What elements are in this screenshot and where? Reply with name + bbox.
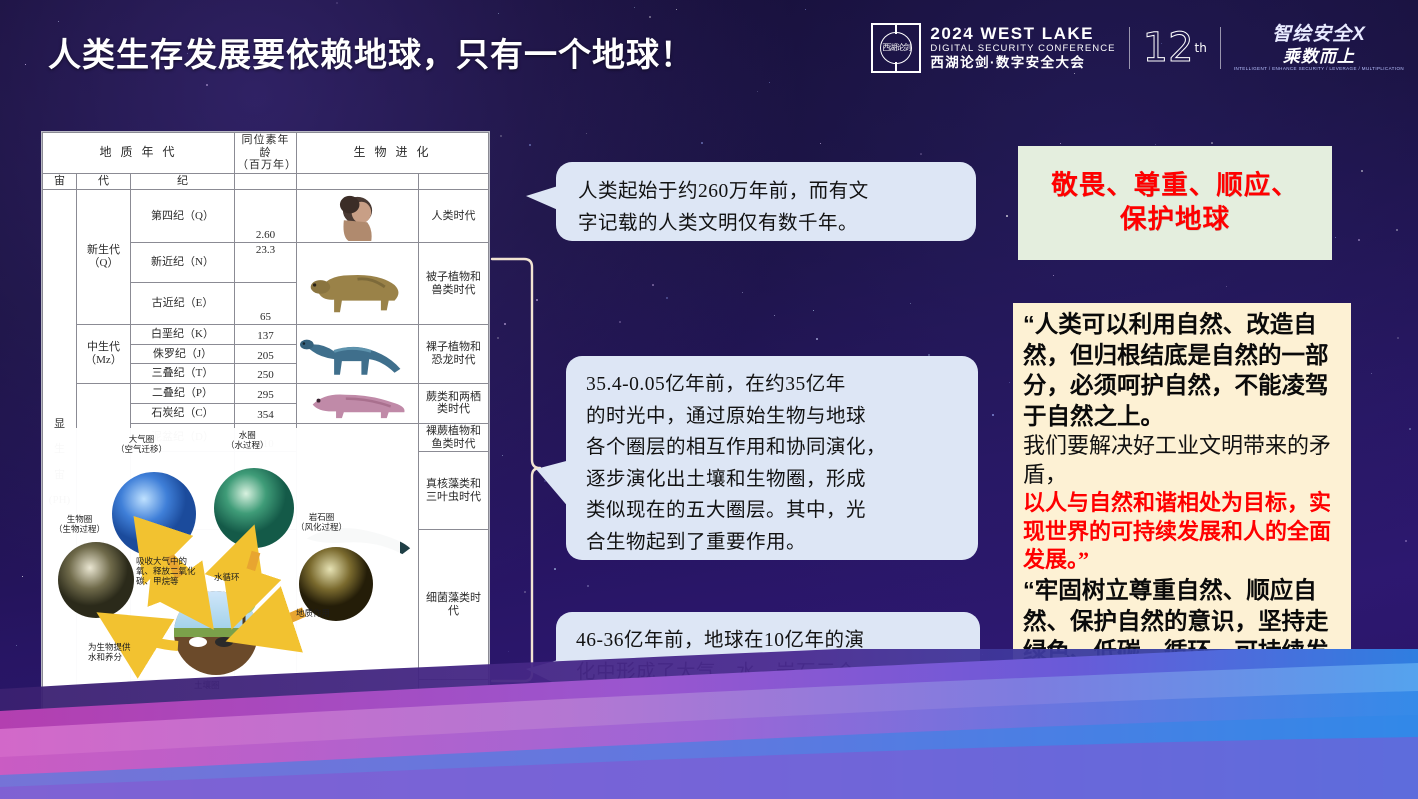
brand-line-3: 西湖论剑·数字安全大会 xyxy=(930,55,1115,71)
edition-number: 12th xyxy=(1143,29,1207,67)
cell-evolution: 裸子植物和 恐龙时代 xyxy=(419,325,489,384)
cell-period: 三叠纪（T） xyxy=(131,364,235,384)
edition-digits: 12 xyxy=(1143,29,1194,67)
green-box-line-2: 保护地球 xyxy=(1120,203,1230,237)
cell-evolution: 被子植物和 兽类时代 xyxy=(419,243,489,325)
callout-bubble-evolution: 35.4-0.05亿年前，在约35亿年 的时光中，通过原始生物与地球 各个圈层的… xyxy=(566,356,978,560)
label-flow-nutrients: 为生物提供水和养分 xyxy=(88,642,131,662)
cell-age: 137 xyxy=(235,325,297,345)
cell-period: 新近纪（N） xyxy=(131,243,235,283)
green-box-line-1: 敬畏、尊重、顺应、 xyxy=(1051,169,1299,203)
cell-age: 65 xyxy=(235,283,297,325)
subheader-eon: 宙 xyxy=(43,173,77,189)
table-header-row: 地 质 年 代 同位素年龄（百万年） 生 物 进 化 xyxy=(43,133,489,174)
page-title: 人类生存发展要依赖地球，只有一个地球！ xyxy=(48,28,694,76)
hydrosphere-sphere xyxy=(214,468,294,548)
cell-age: 250 xyxy=(235,364,297,384)
bubble-text: 35.4-0.05亿年前，在约35亿年 的时光中，通过原始生物与地球 各个圈层的… xyxy=(586,369,962,558)
cell-period: 第四纪（Q） xyxy=(131,189,235,243)
cell-period: 侏罗纪（J） xyxy=(131,344,235,364)
subheader-spacer-age xyxy=(235,173,297,189)
cell-age: 205 xyxy=(235,344,297,364)
brand-text-block: 2024 WEST LAKE DIGITAL SECURITY CONFEREN… xyxy=(930,25,1115,71)
cell-fossil-hominid xyxy=(297,189,419,243)
slogan-line-1: 智绘安全X xyxy=(1272,25,1366,44)
edition-suffix: th xyxy=(1195,29,1207,67)
dinosaur-icon xyxy=(299,326,416,382)
label-flow-water-cycle: 水循环 xyxy=(214,572,240,582)
slogan-green-box: 敬畏、尊重、顺应、 保护地球 xyxy=(1018,146,1332,260)
west-lake-logo-icon: 西湖论剑 xyxy=(871,23,921,73)
header-biologic-evolution: 生 物 进 化 xyxy=(297,133,489,174)
cell-fossil-amphibian xyxy=(297,383,419,423)
cell-period: 白垩纪（K） xyxy=(131,325,235,345)
slide-root: 人类生存发展要依赖地球，只有一个地球！ 西湖论剑 2024 WEST LAKE … xyxy=(0,0,1418,799)
slogan-fineprint: INTELLIGENT / ENHANCE SECURITY / LEVERAG… xyxy=(1234,67,1404,72)
chart-bottom-caption: [ ZN \ SN ] xyxy=(48,711,94,719)
bubble-tail xyxy=(536,460,570,509)
cell-evolution: 蕨类和两栖 类时代 xyxy=(419,383,489,423)
brand-line-2: DIGITAL SECURITY CONFERENCE xyxy=(930,43,1115,55)
cell-evolution: 细菌藻类时 代 xyxy=(419,530,489,680)
quote-segment-4: “牢固树立尊重自然、顺应自然、保护自然的意识，坚持走绿色、低碳、循环、可持续发展… xyxy=(1023,575,1343,697)
cell-period: 石炭纪（C） xyxy=(131,403,235,423)
earth-spheres-cycle-diagram: 大气圈（空气迁移） 水圈（水过程） 岩石圈（风化过程） 生物圈（生物过程） 土壤… xyxy=(48,428,400,714)
brand-line-1: 2024 WEST LAKE xyxy=(930,25,1115,43)
quote-segment-1: “人类可以利用自然、改造自然，但归根结底是自然的一部分，必须呵护自然，不能凌驾于… xyxy=(1023,309,1343,431)
label-biosphere: 生物圈（生物过程） xyxy=(54,514,105,534)
label-hydrosphere: 水圈（水过程） xyxy=(226,430,269,450)
hominid-icon xyxy=(299,191,416,242)
logo-inner-glyph: 西湖论剑 xyxy=(880,32,912,64)
cell-evolution: 真核藻类和 三叶虫时代 xyxy=(419,452,489,530)
cell-era-cenozoic: 新生代（Q） xyxy=(77,189,131,325)
table-row: 显生宙(PH) 新生代（Q） 第四纪（Q） 2.60 人类时代 xyxy=(43,189,489,243)
quote-segment-3: 以人与自然和谐相处为目标，实现世界的可持续发展和人的全面发展。” xyxy=(1023,489,1343,575)
mammal-icon xyxy=(299,246,416,322)
quotation-box: “人类可以利用自然、改造自然，但归根结底是自然的一部分，必须呵护自然，不能凌驾于… xyxy=(1013,303,1351,720)
brand-divider-2 xyxy=(1220,27,1221,69)
label-flow-geologic: 地质作用 xyxy=(296,608,330,618)
label-pedosphere: 土壤圈 xyxy=(194,680,220,690)
table-subheader-row: 宙 代 纪 xyxy=(43,173,489,189)
cell-fossil-mammal xyxy=(297,243,419,325)
cell-fossil-dinosaur xyxy=(297,325,419,384)
biosphere-sphere xyxy=(58,542,134,618)
subheader-era: 代 xyxy=(77,173,131,189)
cell-evolution: 化时期 xyxy=(419,680,489,722)
cell-age: 23.3 xyxy=(235,243,297,283)
subheader-spacer-evo xyxy=(419,173,489,189)
cell-evolution: 人类时代 xyxy=(419,189,489,243)
cell-era-mesozoic: 中生代（Mz） xyxy=(77,325,131,384)
cell-period: 二叠纪（P） xyxy=(131,383,235,403)
label-flow-gas-exchange: 吸收大气中的氧、释放二氧化碳、甲烷等 xyxy=(136,556,196,587)
quote-attribution: （习近平） xyxy=(1117,673,1207,695)
cell-period: 古近纪（E） xyxy=(131,283,235,325)
bubble-tail xyxy=(526,660,558,685)
header-geologic-age: 地 质 年 代 xyxy=(43,133,235,174)
table-row: 古生 二叠纪（P） 295 蕨类和两栖 类时代 xyxy=(43,383,489,403)
amphibian-icon xyxy=(299,385,416,422)
callout-bubble-human-origin: 人类起始于约260万年前，而有文 字记载的人类文明仅有数千年。 xyxy=(556,162,976,241)
cell-age: 295 xyxy=(235,383,297,403)
cell-age: 2.60 xyxy=(235,189,297,243)
callout-bubble-early-earth: 46-36亿年前，地球在10亿年的演 化中形成了大气、水、岩石三个 圈层。 xyxy=(556,612,980,720)
quote-segment-2: 我们要解决好工业文明带来的矛盾， xyxy=(1023,431,1343,489)
slogan-line-2: 乘数而上 xyxy=(1283,48,1355,65)
header-isotope-age: 同位素年龄（百万年） xyxy=(235,133,297,174)
conference-branding: 西湖论剑 2024 WEST LAKE DIGITAL SECURITY CON… xyxy=(871,20,1404,76)
label-atmosphere: 大气圈（空气迁移） xyxy=(116,434,167,454)
atmosphere-sphere xyxy=(112,472,196,556)
cell-age: 354 xyxy=(235,403,297,423)
bracket-connector xyxy=(490,255,542,685)
subheader-period: 纪 xyxy=(131,173,235,189)
bubble-text: 46-36亿年前，地球在10亿年的演 化中形成了大气、水、岩石三个 圈层。 xyxy=(576,625,964,720)
label-lithosphere: 岩石圈（风化过程） xyxy=(296,512,347,532)
conference-slogan: 智绘安全X 乘数而上 INTELLIGENT / ENHANCE SECURIT… xyxy=(1234,25,1404,72)
geology-chart-image: 地 质 年 代 同位素年龄（百万年） 生 物 进 化 宙 代 纪 显生宙(PH)… xyxy=(41,131,490,722)
cell-evolution: 裸蕨植物和 鱼类时代 xyxy=(419,423,489,451)
bubble-tail xyxy=(526,186,558,210)
subheader-spacer-pic xyxy=(297,173,419,189)
cycle-diagram-svg xyxy=(48,428,400,714)
table-row: 中生代（Mz） 白垩纪（K） 137 裸子植物和 恐龙时代 xyxy=(43,325,489,345)
brand-divider-1 xyxy=(1129,27,1130,69)
bubble-text: 人类起始于约260万年前，而有文 字记载的人类文明仅有数千年。 xyxy=(578,176,958,239)
